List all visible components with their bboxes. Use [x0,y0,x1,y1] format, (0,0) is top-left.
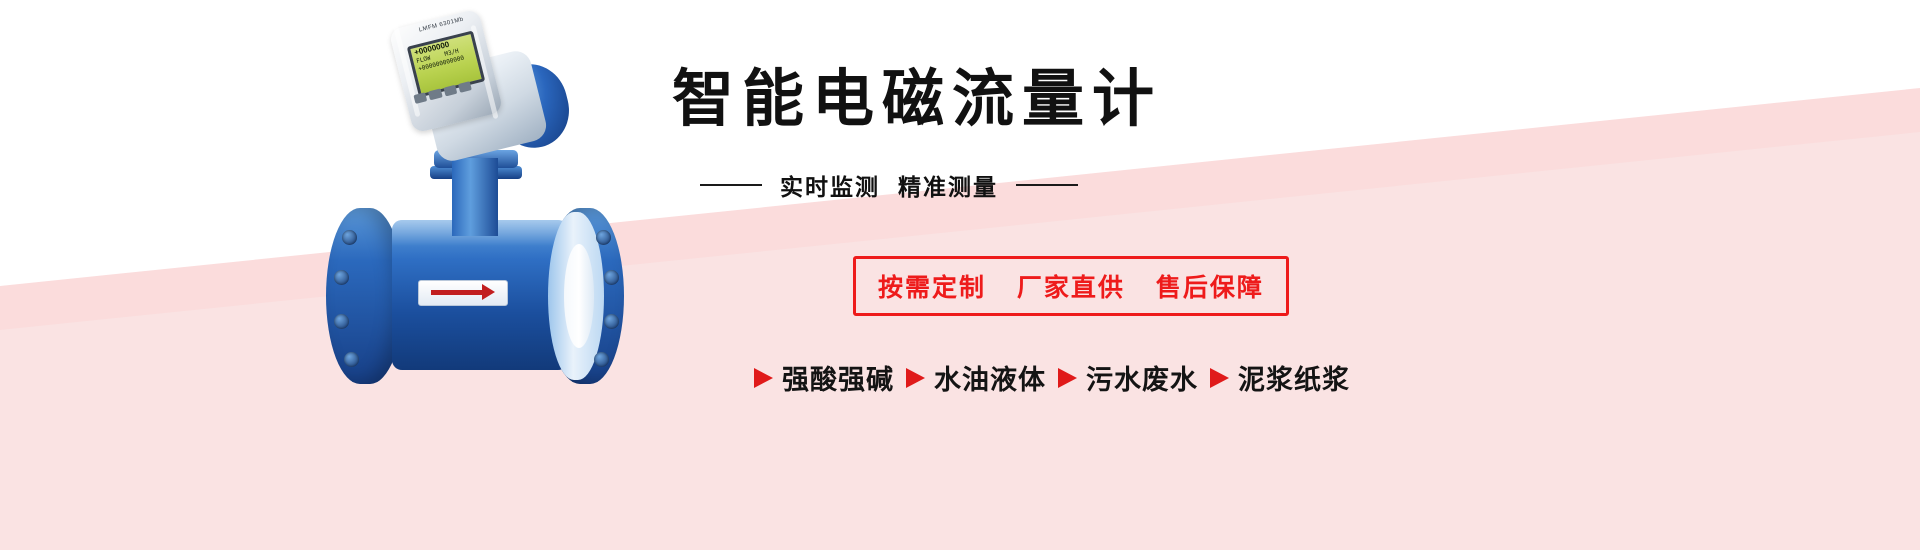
highlight-box: 按需定制 厂家直供 售后保障 [853,256,1289,316]
bolt-icon [342,230,357,245]
triangle-bullet-icon [1210,368,1229,388]
banner-title: 智能电磁流量计 [672,48,1162,138]
bolt-icon [594,352,609,367]
highlight-item-2: 厂家直供 [1017,273,1125,302]
meter-neck [452,158,498,236]
right-flange-bore [564,244,594,348]
flow-direction-arrow-icon [418,280,508,306]
feature-label: 强酸强碱 [782,358,894,397]
feature-item: 泥浆纸浆 [1210,358,1350,397]
triangle-bullet-icon [1058,368,1077,388]
rule-right [1016,184,1078,186]
highlight-item-3: 售后保障 [1156,273,1264,302]
bolt-icon [334,314,349,329]
bolt-icon [604,270,619,285]
device-button[interactable] [413,92,427,104]
product-banner: LMFM 6301Mb +0000000 FLOW M3/H +00000000… [0,0,1920,550]
feature-label: 泥浆纸浆 [1238,358,1350,397]
feature-item: 污水废水 [1058,358,1198,397]
triangle-bullet-icon [906,368,925,388]
highlight-item-1: 按需定制 [878,273,986,302]
bolt-icon [334,270,349,285]
bolt-icon [344,352,359,367]
feature-item: 水油液体 [906,358,1046,397]
triangle-bullet-icon [754,368,773,388]
device-button[interactable] [428,89,442,101]
bolt-icon [596,230,611,245]
feature-label: 水油液体 [934,358,1046,397]
banner-subtitle: 实时监测 精准测量 [700,168,1078,202]
device-button[interactable] [443,85,457,97]
device-button[interactable] [458,81,472,93]
flowmeter-product-image: LMFM 6301Mb +0000000 FLOW M3/H +00000000… [300,8,660,438]
feature-item: 强酸强碱 [754,358,894,397]
feature-list: 强酸强碱 水油液体 污水废水 泥浆纸浆 [754,358,1350,397]
subtitle-right-text: 精准测量 [898,168,998,202]
rule-left [700,184,762,186]
bolt-icon [604,314,619,329]
subtitle-left-text: 实时监测 [780,168,880,202]
feature-label: 污水废水 [1086,358,1198,397]
